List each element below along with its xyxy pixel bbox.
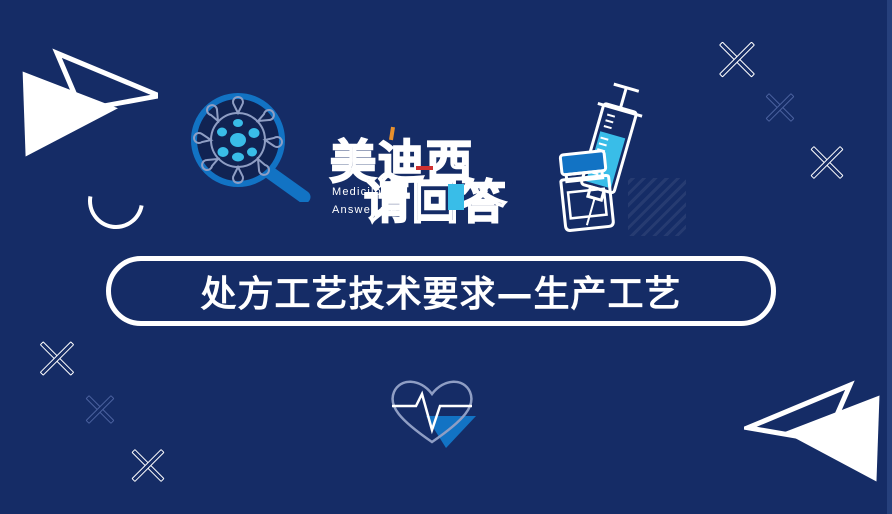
logo-red-accent <box>416 166 433 170</box>
arc-icon <box>77 162 155 240</box>
x-mark-decoration <box>35 336 79 380</box>
triangle-pair-right-icon <box>8 30 158 160</box>
page-title: 处方工艺技术要求—生产工艺 <box>200 265 681 317</box>
medicilon-logo: 美迪西 请回答 Medicilon Answer me <box>326 126 516 232</box>
slide-canvas: 美迪西 请回答 Medicilon Answer me <box>0 0 892 514</box>
x-mark-decoration <box>82 391 118 427</box>
logo-chinese-bottom: 请回答 <box>364 166 508 232</box>
triangle-pair-left-icon <box>744 362 892 492</box>
logo-en-answerme: Answer me <box>332 204 398 216</box>
x-mark-decoration <box>714 36 760 82</box>
logo-cyan-square <box>448 184 464 210</box>
x-mark-decoration <box>762 89 798 125</box>
vial-icon <box>546 148 638 234</box>
x-mark-decoration <box>806 141 848 183</box>
heart-pulse-icon <box>382 372 488 448</box>
title-pill: 处方工艺技术要求—生产工艺 <box>106 256 776 326</box>
magnifier-virus-icon <box>186 92 316 202</box>
x-mark-decoration <box>127 444 169 486</box>
logo-en-medicilon: Medicilon <box>332 186 389 198</box>
